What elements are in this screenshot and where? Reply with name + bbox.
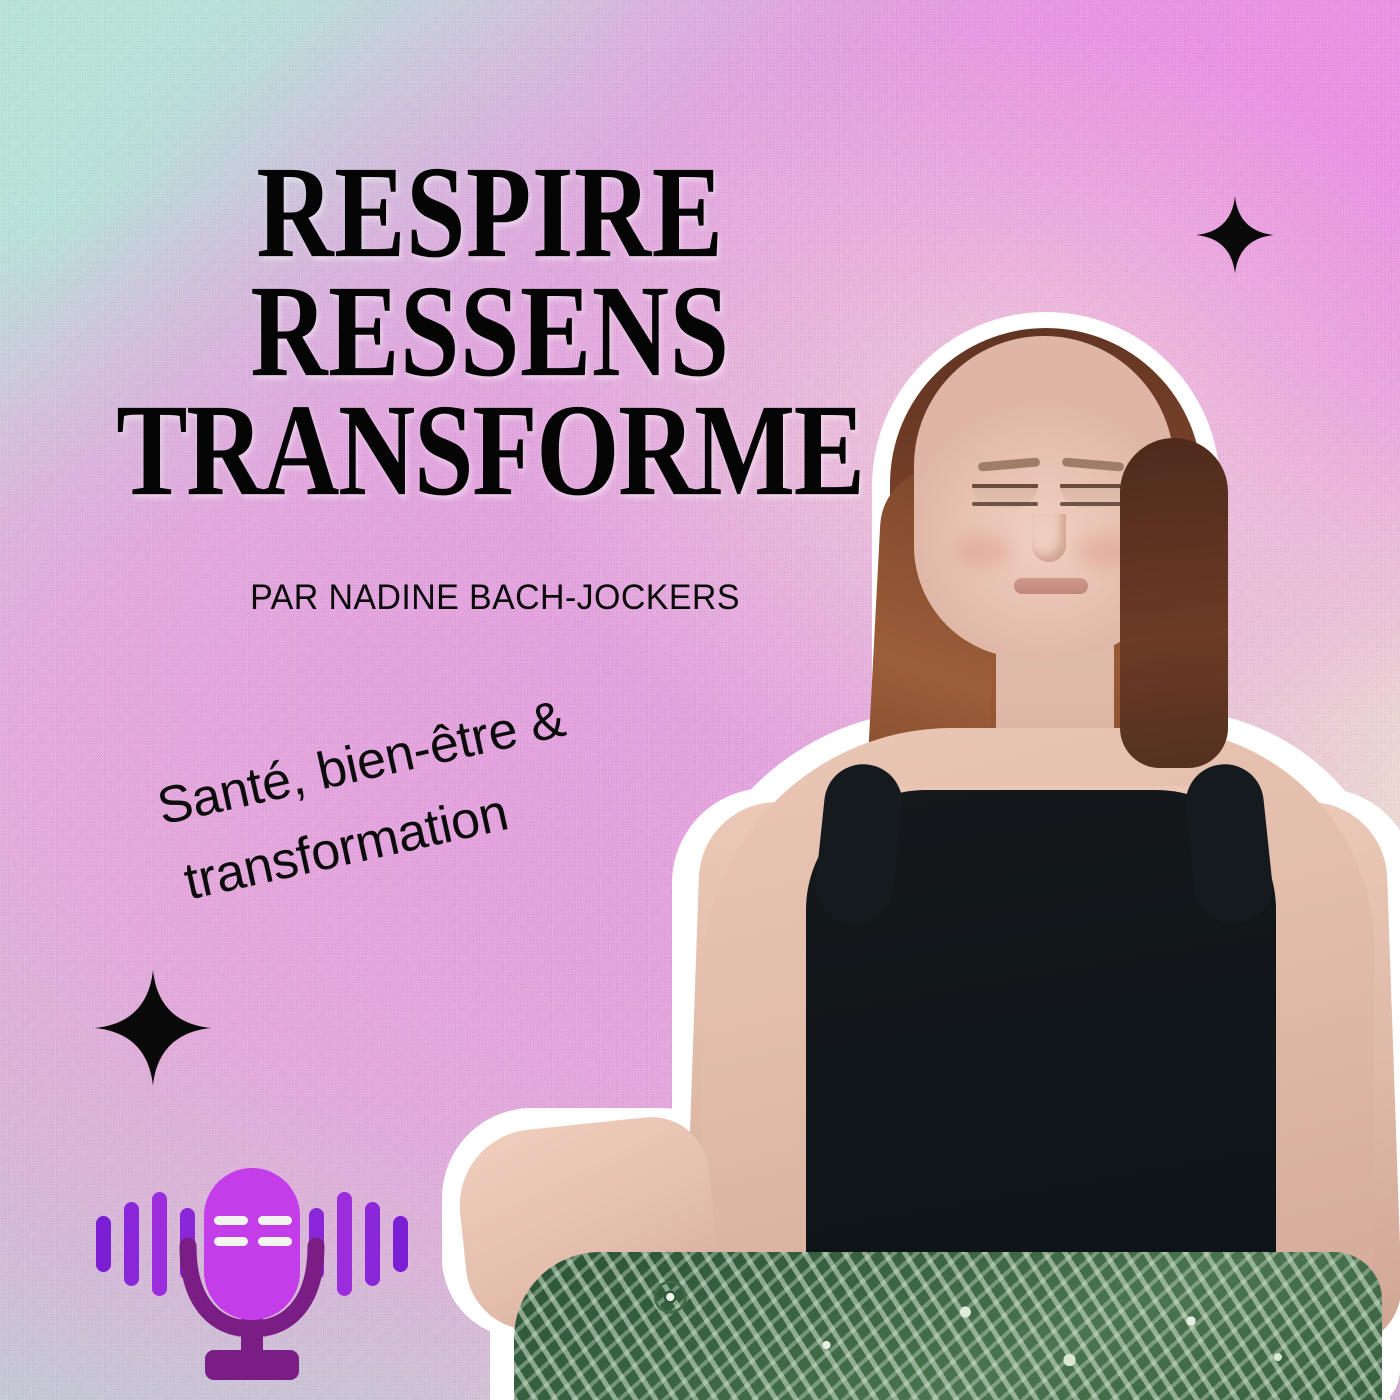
host-byline: PAR NADINE BACH-JOCKERS <box>15 578 975 618</box>
sparkle-star-icon <box>95 970 211 1086</box>
nose <box>1032 514 1066 562</box>
eyelash-right <box>1060 502 1126 506</box>
paisley-leggings <box>514 1252 1382 1400</box>
cheek-left <box>956 534 1010 568</box>
mouth <box>1014 578 1088 594</box>
podcast-microphone-icon <box>92 1158 412 1394</box>
sparkle-star-icon <box>1196 196 1274 274</box>
hair-strand-right <box>1120 438 1228 768</box>
eyelash-left <box>972 502 1038 506</box>
eyebrow-right <box>1062 457 1125 471</box>
eyebrow-left <box>978 457 1041 471</box>
cover-title: RESPIRE RESSENS TRANSFORME <box>0 150 980 492</box>
title-line-3: TRANSFORME <box>5 388 975 516</box>
podcast-cover-art: RESPIRE RESSENS TRANSFORME PAR NADINE BA… <box>0 0 1400 1400</box>
mic-base <box>205 1350 299 1380</box>
